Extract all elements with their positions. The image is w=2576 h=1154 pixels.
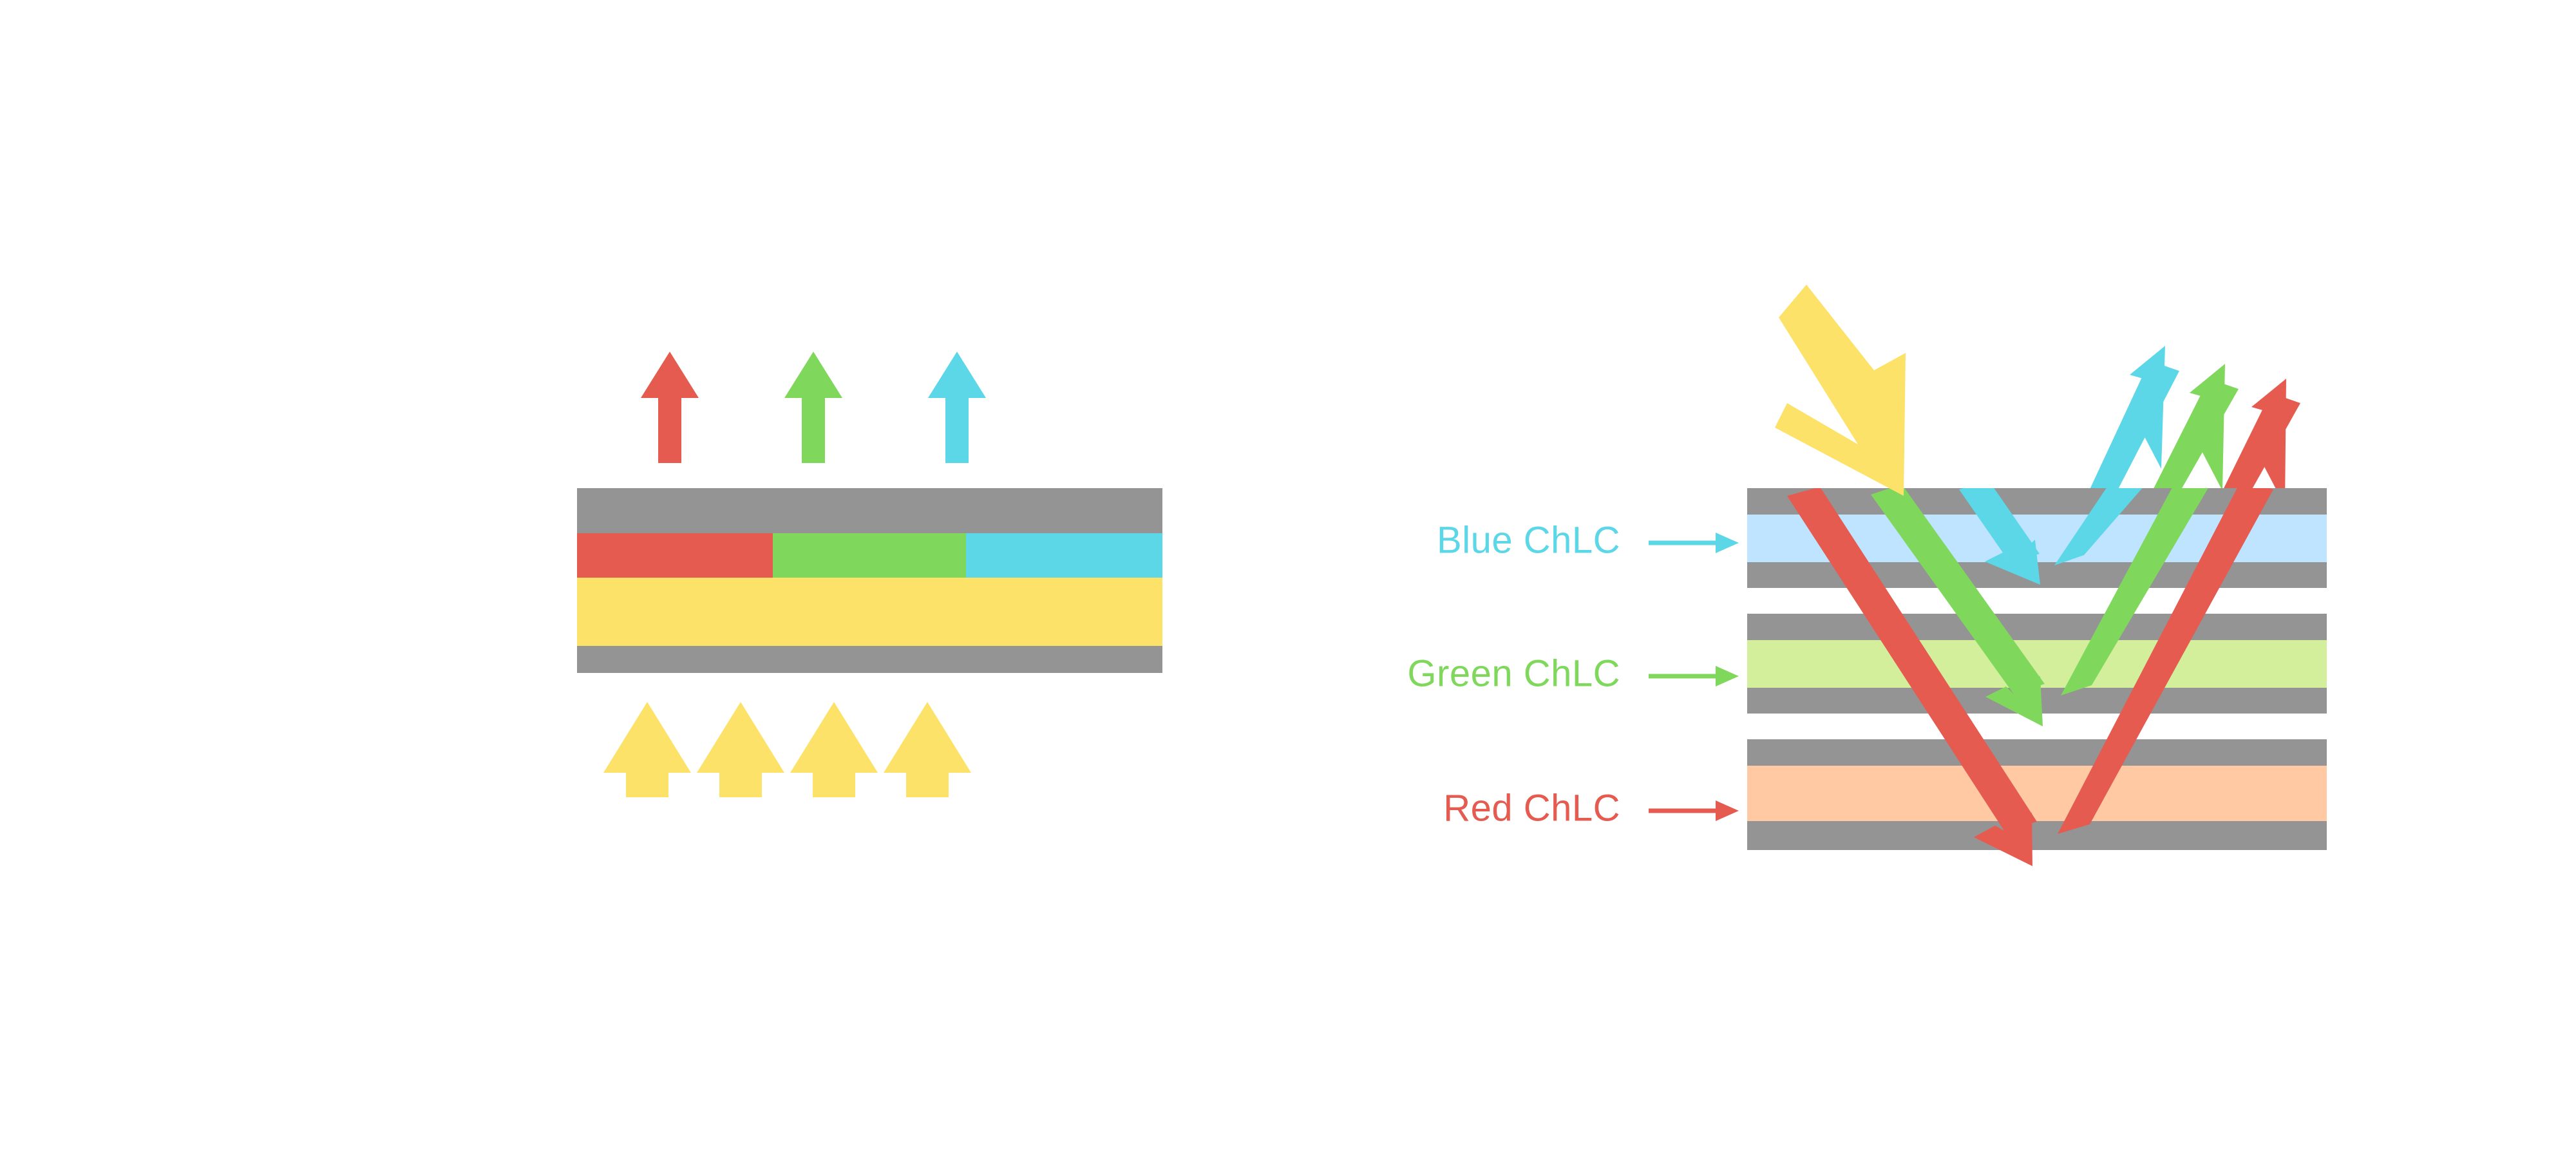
right-layer-red-chlc [1747, 766, 2327, 821]
label-green-chlc-arrow-icon [1649, 666, 1739, 686]
right-layer-red-bottom-electrode [1747, 821, 2327, 850]
label-red-chlc-arrow-icon [1649, 800, 1739, 821]
label-green-chlc: Green ChLC [1407, 652, 1620, 694]
right-panel-svg: Blue ChLC Green ChLC Red ChLC [0, 0, 2576, 1154]
right-layer-red-top-electrode [1747, 739, 2327, 766]
incident-ambient-light-arrow-icon [1775, 285, 1906, 496]
label-blue-chlc: Blue ChLC [1437, 519, 1620, 561]
green-outgoing-arrowhead-icon [2190, 364, 2225, 491]
label-red-chlc: Red ChLC [1443, 787, 1620, 829]
label-blue-chlc-arrow-icon [1649, 533, 1739, 553]
right-panel-reflective-chlc-stack: Blue ChLC Green ChLC Red ChLC [0, 0, 2576, 1154]
diagram-canvas: Blue ChLC Green ChLC Red ChLC [0, 0, 2576, 1154]
right-layer-gap-blue-green [1747, 588, 2327, 614]
layer-label-group: Blue ChLC Green ChLC Red ChLC [1407, 519, 1739, 829]
right-layer-green-top-electrode [1747, 614, 2327, 640]
red-outgoing-arrowhead-icon [2251, 379, 2286, 506]
